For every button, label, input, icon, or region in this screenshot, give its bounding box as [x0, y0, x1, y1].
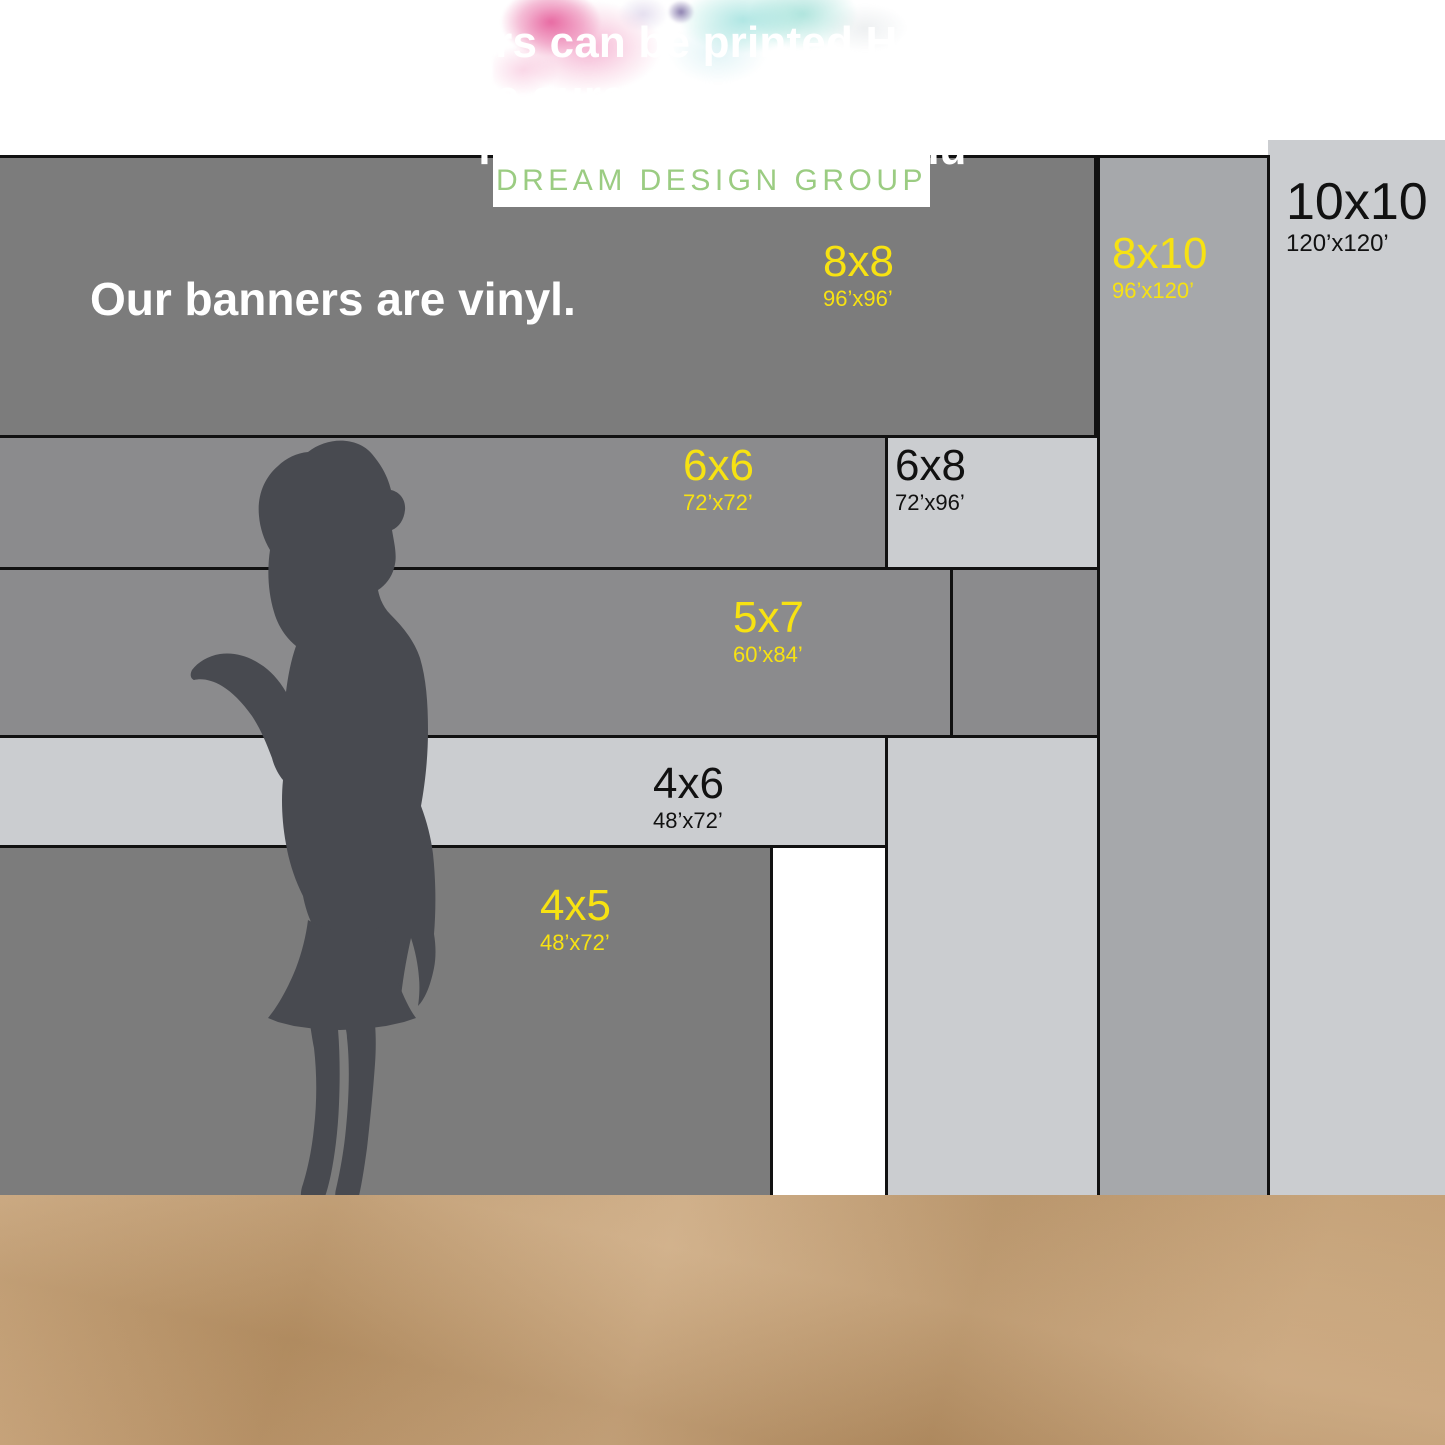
footer-line-2: Vertically. Be sure to select the size y…	[0, 70, 1445, 124]
banner-size-chart: DREAM DESIGN GROUP Our banners are vinyl…	[0, 0, 1445, 1445]
size-inches-8x8: 96’x96’	[823, 288, 894, 310]
size-name-5x7: 5x7	[733, 596, 804, 640]
footer-text: Our Banners can be printed Horizontally …	[0, 16, 1445, 177]
size-name-8x10: 8x10	[1112, 232, 1207, 276]
size-label-6x6: 6x6 72’x72’	[683, 444, 754, 514]
size-label-8x8: 8x8 96’x96’	[823, 240, 894, 310]
size-label-5x7: 5x7 60’x84’	[733, 596, 804, 666]
size-label-10x10: 10x10 120’x120’	[1286, 176, 1428, 256]
size-inches-4x5: 48’x72’	[540, 932, 611, 954]
footer-line-3: in the drop down menu	[0, 123, 1445, 177]
banner-rect-10x10[interactable]	[1268, 140, 1445, 1198]
size-name-6x8: 6x8	[895, 444, 966, 488]
size-inches-5x7: 60’x84’	[733, 644, 804, 666]
size-label-8x10: 8x10 96’x120’	[1112, 232, 1207, 302]
size-inches-8x10: 96’x120’	[1112, 280, 1207, 302]
size-name-4x5: 4x5	[540, 884, 611, 928]
size-label-4x6: 4x6 48’x72’	[653, 762, 724, 832]
size-inches-6x6: 72’x72’	[683, 492, 754, 514]
size-name-10x10: 10x10	[1286, 176, 1428, 228]
size-name-4x6: 4x6	[653, 762, 724, 806]
size-inches-10x10: 120’x120’	[1286, 232, 1428, 256]
banner-rect-8x10[interactable]	[1097, 155, 1270, 1198]
size-label-4x5: 4x5 48’x72’	[540, 884, 611, 954]
footer-line-1: Our Banners can be printed Horizontally …	[0, 16, 1445, 70]
woman-silhouette-icon	[190, 440, 490, 1208]
banner-rect-4x6-right[interactable]	[885, 735, 1100, 1198]
size-name-6x6: 6x6	[683, 444, 754, 488]
size-inches-4x6: 48’x72’	[653, 810, 724, 832]
size-inches-6x8: 72’x96’	[895, 492, 966, 514]
size-name-8x8: 8x8	[823, 240, 894, 284]
floor-band	[0, 1195, 1445, 1445]
size-label-6x8: 6x8 72’x96’	[895, 444, 966, 514]
headline-text: Our banners are vinyl.	[90, 272, 576, 326]
